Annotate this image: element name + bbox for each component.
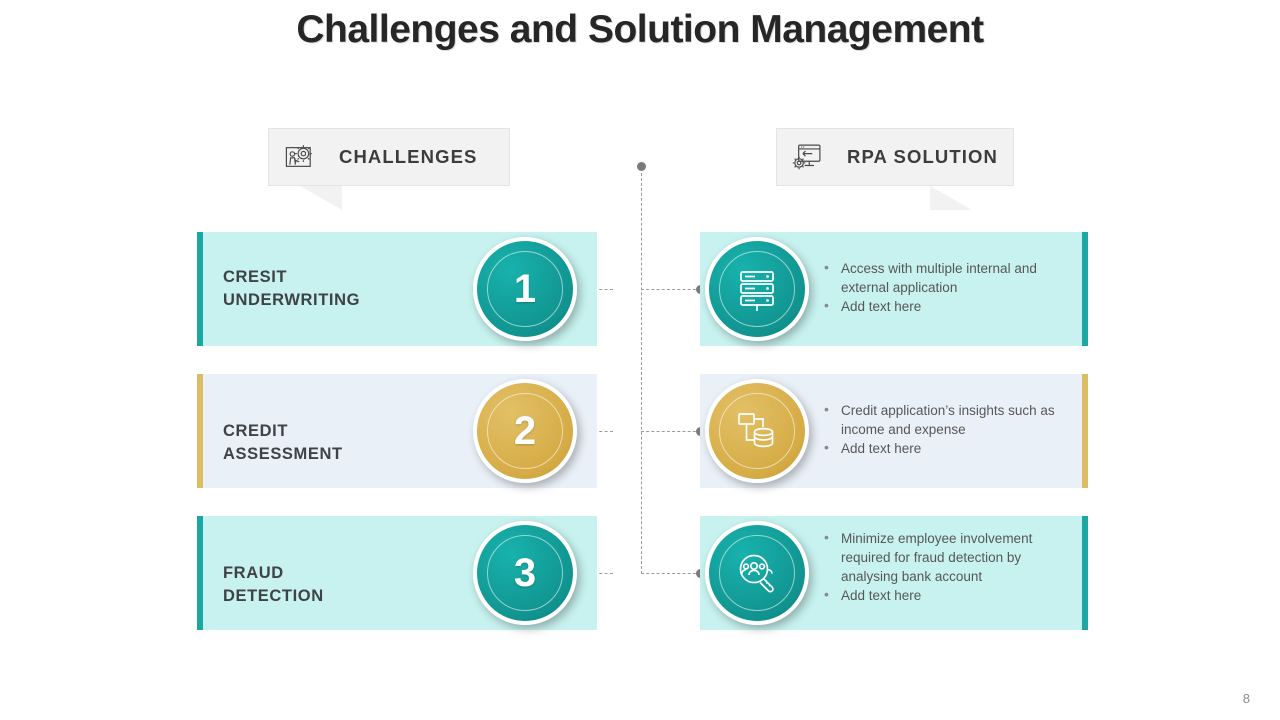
solution-header-label: RPA SOLUTION: [847, 146, 998, 168]
step-number-1: 1: [514, 269, 536, 309]
bullet-item: Credit application’s insights such as in…: [822, 401, 1074, 439]
step-number-circle-1[interactable]: 1: [473, 237, 577, 341]
solution-icon-circle-3[interactable]: [705, 521, 809, 625]
page-title: Challenges and Solution Management: [0, 8, 1280, 52]
magnifier-people-icon: [731, 547, 783, 599]
step-number-circle-3[interactable]: 3: [473, 521, 577, 625]
challenge-label-1: CRESIT UNDERWRITING: [223, 266, 360, 312]
monitor-gear-icon: [791, 140, 825, 174]
person-pushing-gear-icon: [283, 140, 317, 174]
bullet-item: Add text here: [822, 297, 1074, 316]
step-number-2: 2: [514, 411, 536, 451]
solution-header-badge: RPA SOLUTION: [776, 128, 1014, 186]
challenges-badge-tail: [300, 186, 342, 210]
challenge-label-3: FRAUD DETECTION: [223, 562, 324, 608]
bullet-item: Add text here: [822, 439, 1074, 458]
challenge-label-2: CREDIT ASSESSMENT: [223, 420, 343, 466]
solution-icon-circle-1[interactable]: [705, 237, 809, 341]
step-number-circle-2[interactable]: 2: [473, 379, 577, 483]
connector-branch-1: [641, 289, 701, 290]
solution-bullets-1: Access with multiple internal and extern…: [822, 259, 1074, 316]
solution-bullets-2: Credit application’s insights such as in…: [822, 401, 1074, 458]
flowchart-database-icon: [731, 405, 783, 457]
bullet-item: Add text here: [822, 586, 1074, 605]
step-number-3: 3: [514, 553, 536, 593]
connector-vertical-line: [641, 168, 642, 574]
bullet-item: Minimize employee involvement required f…: [822, 529, 1074, 586]
server-rack-icon: [731, 263, 783, 315]
connector-branch-2: [641, 431, 701, 432]
solution-icon-circle-2[interactable]: [705, 379, 809, 483]
solution-badge-tail: [930, 186, 972, 210]
challenges-header-badge: CHALLENGES: [268, 128, 510, 186]
bullet-item: Access with multiple internal and extern…: [822, 259, 1074, 297]
connector-branch-3: [641, 573, 701, 574]
connector-top-dot: [637, 162, 646, 171]
page-number: 8: [1243, 691, 1250, 706]
challenges-header-label: CHALLENGES: [339, 146, 477, 168]
solution-bullets-3: Minimize employee involvement required f…: [822, 529, 1074, 605]
